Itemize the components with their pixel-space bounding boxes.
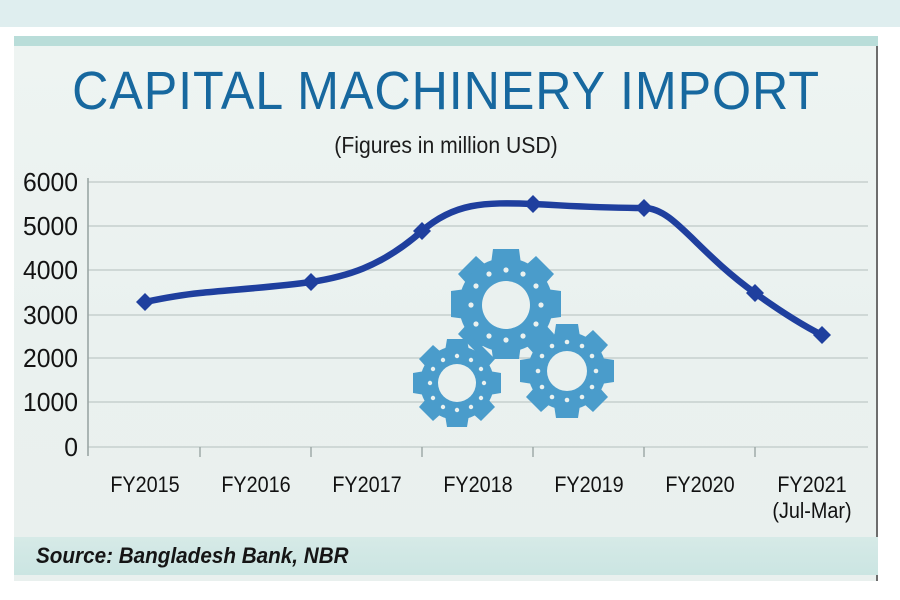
y-tick-6000: 6000 — [17, 169, 78, 195]
gears-icon — [413, 249, 614, 427]
marker-fy2015 — [136, 293, 154, 311]
x-tick-fy2016-label: FY2016 — [221, 472, 290, 497]
x-tick-fy2017-label: FY2017 — [332, 472, 401, 497]
line-chart: 6000 5000 4000 3000 2000 1000 0 FY2015 F… — [14, 36, 878, 581]
x-tick-fy2021-sublabel: (Jul-Mar) — [762, 497, 863, 524]
source-note: Source: Bangladesh Bank, NBR — [36, 544, 349, 568]
y-tick-0: 0 — [17, 434, 78, 460]
y-tick-2000: 2000 — [17, 345, 78, 371]
source-band: Source: Bangladesh Bank, NBR — [14, 537, 878, 575]
x-tick-fy2015-label: FY2015 — [110, 472, 179, 497]
top-teal-band — [0, 0, 900, 27]
marker-fy2019 — [635, 199, 653, 217]
chart-canvas — [14, 36, 878, 581]
x-tick-fy2021: FY2021 (Jul-Mar) — [762, 472, 863, 524]
x-tick-fy2017: FY2017 — [318, 472, 417, 497]
gear-right — [520, 324, 614, 418]
x-tick-fy2018-label: FY2018 — [443, 472, 512, 497]
gear-left — [413, 339, 501, 427]
x-tick-fy2019: FY2019 — [540, 472, 639, 497]
x-tick-fy2016: FY2016 — [207, 472, 306, 497]
y-tick-3000: 3000 — [17, 302, 78, 328]
marker-fy2018 — [524, 195, 542, 213]
infographic-card: CAPITAL MACHINERY IMPORT (Figures in mil… — [14, 36, 878, 581]
infographic-root: CAPITAL MACHINERY IMPORT (Figures in mil… — [0, 0, 900, 600]
y-tick-5000: 5000 — [17, 213, 78, 239]
x-tick-fy2020: FY2020 — [651, 472, 750, 497]
x-tick-fy2018: FY2018 — [429, 472, 528, 497]
marker-fy2016 — [302, 273, 320, 291]
x-tick-fy2020-label: FY2020 — [665, 472, 734, 497]
x-axis-ticks — [200, 447, 755, 457]
x-tick-fy2021-label: FY2021 — [777, 472, 846, 497]
y-tick-4000: 4000 — [17, 257, 78, 283]
x-tick-fy2015: FY2015 — [96, 472, 195, 497]
y-tick-1000: 1000 — [17, 389, 78, 415]
x-tick-fy2019-label: FY2019 — [554, 472, 623, 497]
